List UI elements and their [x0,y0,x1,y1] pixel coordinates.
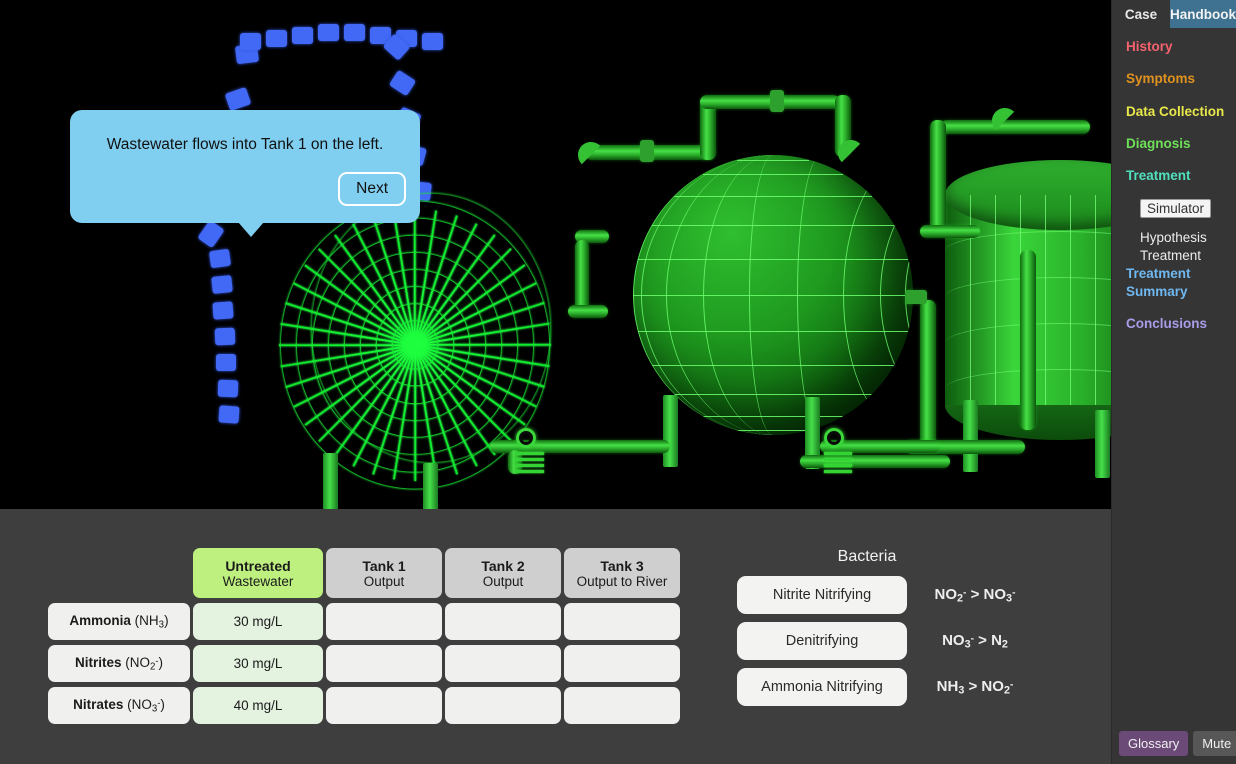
bacteria-title: Bacteria [697,548,1037,566]
table-cell[interactable] [326,687,442,724]
measurements-table: UntreatedWastewaterTank 1OutputTank 2Out… [48,548,683,729]
table-cell[interactable] [445,645,561,682]
next-button[interactable]: Next [338,172,406,206]
sidebar-item-symptoms[interactable]: Symptoms [1126,70,1236,87]
bacteria-panel: Bacteria Nitrite NitrifyingNO2- > NO3-De… [737,548,1037,714]
glossary-button[interactable]: Glossary [1119,731,1188,756]
table-cell[interactable] [445,603,561,640]
bacteria-row: Nitrite NitrifyingNO2- > NO3- [737,576,1037,614]
bacteria-row: Ammonia NitrifyingNH3 > NO2- [737,668,1037,706]
sidebar-tabs: CaseHandbook [1112,0,1236,28]
table-cell[interactable]: 30 mg/L [193,603,323,640]
bacteria-list: Nitrite NitrifyingNO2- > NO3-Denitrifyin… [737,576,1037,706]
table-cell[interactable] [564,645,680,682]
table-header-row: UntreatedWastewaterTank 1OutputTank 2Out… [48,548,683,603]
table-corner-cell [48,548,190,598]
table-column-header: Tank 1Output [326,548,442,598]
sidebar-item-diagnosis[interactable]: Diagnosis [1126,135,1236,152]
tank-scene-viewport[interactable]: Wastewater flows into Tank 1 on the left… [0,0,1111,509]
tutorial-bubble-text: Wastewater flows into Tank 1 on the left… [70,136,420,154]
bacteria-equation: NO3- > N2 [913,632,1037,651]
sidebar-item-data-collection[interactable]: Data Collection [1126,103,1236,120]
sidebar-item-treatment[interactable]: Treatment [1126,167,1236,184]
bacteria-equation: NH3 > NO2- [913,678,1037,697]
tab-case[interactable]: Case [1112,0,1170,28]
table-row-label: Ammonia (NH3) [48,603,190,640]
table-cell[interactable] [326,603,442,640]
sidebar-subitem-hypothesis[interactable]: Hypothesis [1126,229,1236,247]
sidebar-bottom-buttons: GlossaryMute [1119,731,1236,756]
tutorial-bubble: Wastewater flows into Tank 1 on the left… [70,110,420,223]
table-cell[interactable] [445,687,561,724]
table-column-header: Tank 2Output [445,548,561,598]
mute-button[interactable]: Mute [1193,731,1236,756]
table-row: Ammonia (NH3)30 mg/L [48,603,683,645]
table-column-header: UntreatedWastewater [193,548,323,598]
control-panel: UntreatedWastewaterTank 1OutputTank 2Out… [0,509,1111,764]
bacteria-row: DenitrifyingNO3- > N2 [737,622,1037,660]
table-row-label: Nitrates (NO3-) [48,687,190,724]
table-cell[interactable] [564,603,680,640]
sidebar-subitem-simulator[interactable]: Simulator [1126,199,1236,229]
tank-2-graphic[interactable] [615,145,915,490]
bacteria-button[interactable]: Nitrite Nitrifying [737,576,907,614]
table-column-header: Tank 3Output to River [564,548,680,598]
table-row-label: Nitrites (NO2-) [48,645,190,682]
table-cell[interactable]: 40 mg/L [193,687,323,724]
sidebar-item-history[interactable]: History [1126,38,1236,55]
sidebar-nav: HistorySymptomsData CollectionDiagnosisT… [1112,28,1236,332]
table-cell[interactable] [564,687,680,724]
sidebar-item-conclusions[interactable]: Conclusions [1126,315,1236,332]
table-row: Nitrites (NO2-)30 mg/L [48,645,683,687]
table-cell[interactable] [326,645,442,682]
sidebar-subitem-treatment[interactable]: Treatment [1126,247,1236,265]
table-row: Nitrates (NO3-)40 mg/L [48,687,683,729]
simulator-app: Wastewater flows into Tank 1 on the left… [0,0,1236,764]
sidebar: CaseHandbook HistorySymptomsData Collect… [1111,0,1236,764]
tab-handbook[interactable]: Handbook [1170,0,1236,28]
bacteria-button[interactable]: Ammonia Nitrifying [737,668,907,706]
bacteria-equation: NO2- > NO3- [913,586,1037,605]
sidebar-item-treatment-summary[interactable]: Treatment Summary [1126,265,1236,300]
bacteria-button[interactable]: Denitrifying [737,622,907,660]
table-cell[interactable]: 30 mg/L [193,645,323,682]
